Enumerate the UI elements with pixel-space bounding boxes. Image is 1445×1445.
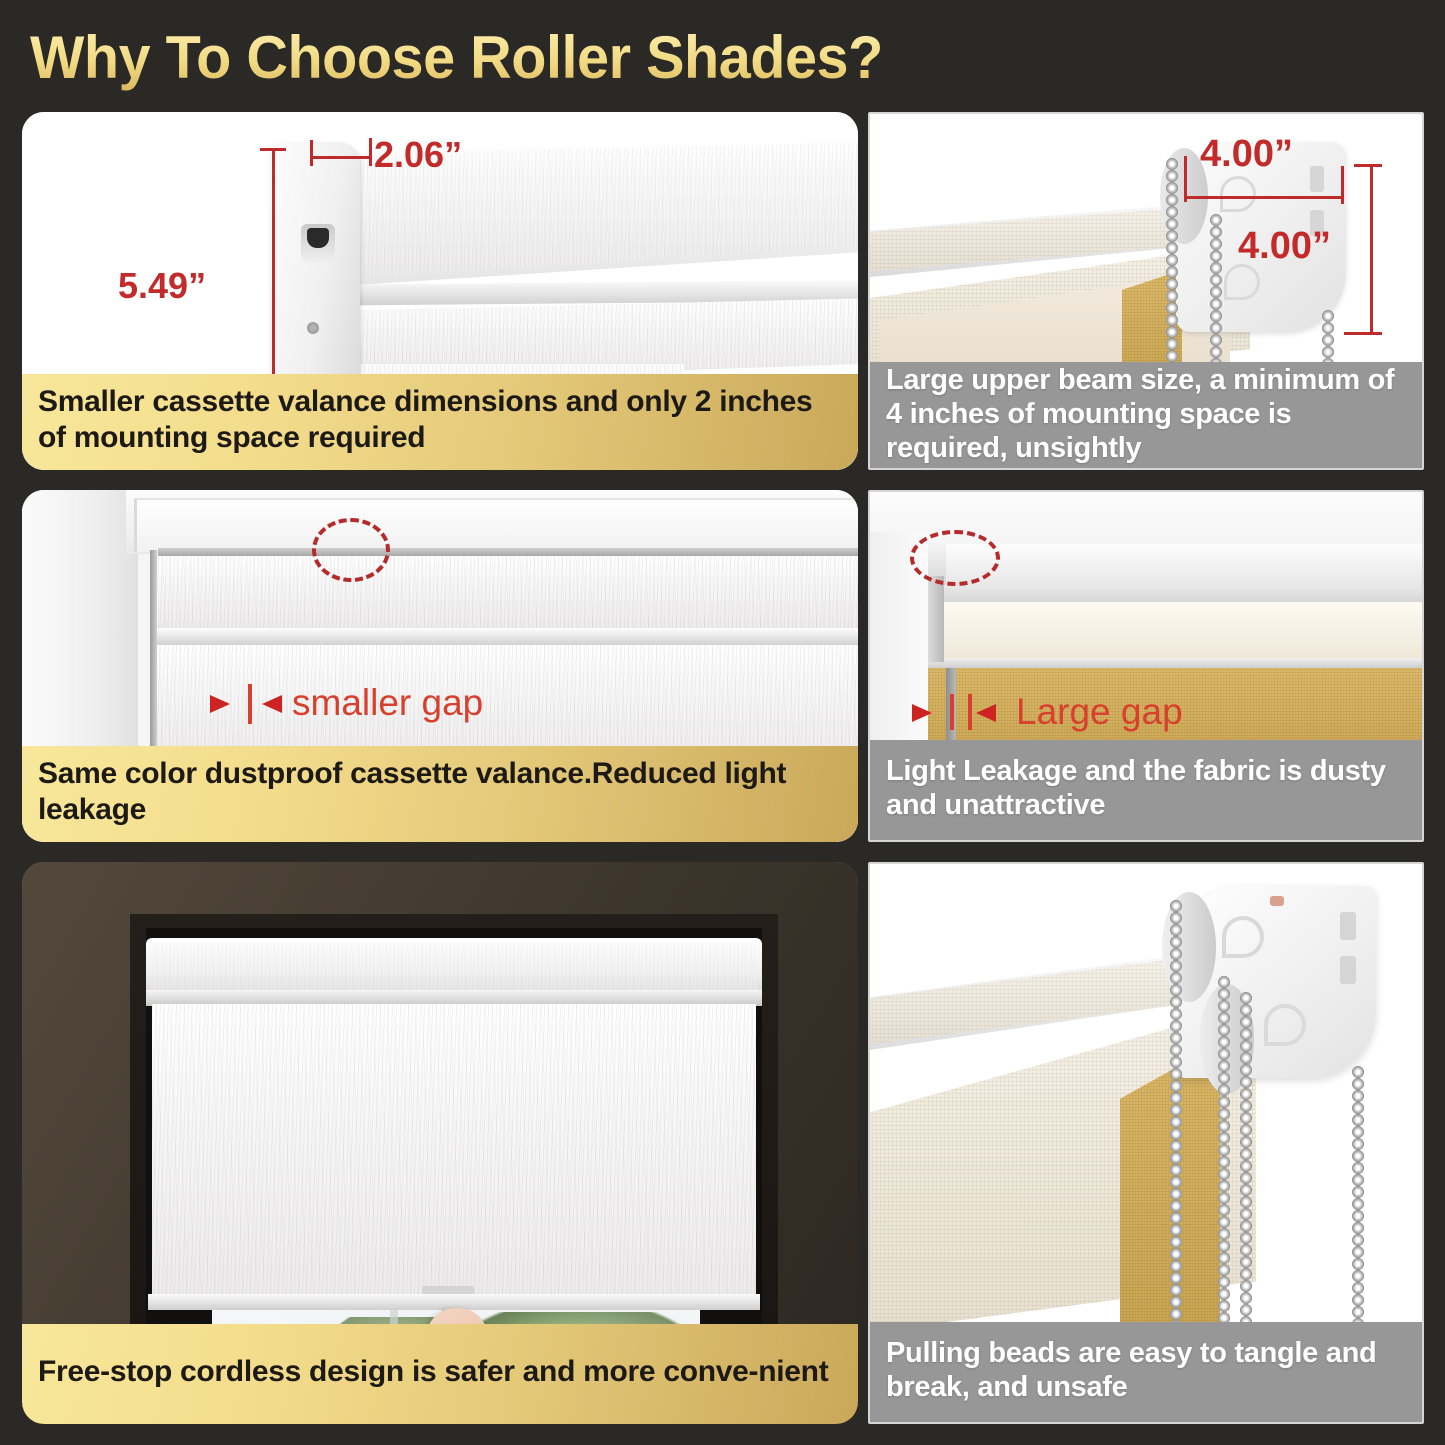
height-dimension-label: 5.49” xyxy=(118,267,206,305)
gap-arrow-left-icon xyxy=(262,695,282,713)
bracket-clip-icon xyxy=(928,576,944,662)
caption-smaller-gap-valance: Same color dustproof cassette valance.Re… xyxy=(22,746,858,842)
caption-cassette-dimensions: Smaller cassette valance dimensions and … xyxy=(22,374,858,470)
valance-cassette-texture xyxy=(150,942,758,992)
panel-large-upper-beam: 4.00” 4.00” Large upper beam size, a min… xyxy=(868,112,1424,470)
panel-smaller-gap-valance: smaller gap Same color dustproof cassett… xyxy=(22,490,858,842)
valance-top-texture xyxy=(280,142,858,284)
bracket-mount-slot-upper-icon xyxy=(1310,166,1324,192)
bracket-rotate-arrow-upper-icon xyxy=(1222,916,1264,958)
caption-large-upper-beam: Large upper beam size, a minimum of 4 in… xyxy=(870,362,1422,468)
beam-width-tick-left xyxy=(1184,156,1187,202)
panel-pulling-beads: Pulling beads are easy to tangle and bre… xyxy=(868,862,1424,1424)
bead-chain-middle-2 xyxy=(1240,992,1253,1324)
bracket-rotate-arrow-lower-icon xyxy=(1264,1004,1306,1046)
beam-height-dim-line xyxy=(1370,164,1373,334)
caption-cordless-window: Free-stop cordless design is safer and m… xyxy=(22,1324,858,1424)
bead-chain-left xyxy=(1170,900,1183,1324)
width-dim-tick-left xyxy=(310,140,313,166)
valance-bottom-lip xyxy=(154,628,858,646)
detail-highlight-circle xyxy=(312,518,390,582)
beam-width-label: 4.00” xyxy=(1200,134,1293,174)
gap-shadow-strip xyxy=(150,550,157,772)
caption-pulling-beads: Pulling beads are easy to tangle and bre… xyxy=(870,1322,1422,1422)
width-dim-tick-right xyxy=(369,138,372,166)
panel-cordless-window: Free-stop cordless design is safer and m… xyxy=(22,862,858,1424)
page-title: Why To Choose Roller Shades? xyxy=(30,22,990,94)
detail-highlight-circle xyxy=(910,530,1000,586)
gap-arrow-left-icon xyxy=(976,704,996,722)
bracket-rotate-arrow-upper-icon xyxy=(1220,176,1256,212)
beam-height-tick-top xyxy=(1354,164,1382,167)
bracket-screw-upper-icon xyxy=(307,322,319,334)
roller-shade-fabric xyxy=(152,1004,756,1304)
beam-height-label: 4.00” xyxy=(1238,226,1331,266)
width-dim-line xyxy=(310,156,372,159)
width-dimension-label: 2.06” xyxy=(374,136,462,174)
casing-inner-edge xyxy=(134,498,858,552)
infographic-page: Why To Choose Roller Shades? 2.06” xyxy=(0,0,1445,1445)
cream-fabric-band xyxy=(922,602,1424,662)
gap-marker-line-right xyxy=(968,694,972,730)
panel-light-leakage: Large gap Light Leakage and the fabric i… xyxy=(868,490,1424,842)
bead-chain-middle xyxy=(1218,976,1231,1324)
height-dim-tick-top xyxy=(260,148,286,151)
beam-width-dim-line xyxy=(1184,196,1344,199)
large-gap-label: Large gap xyxy=(1016,692,1183,732)
gap-arrow-right-icon xyxy=(210,695,230,713)
beam-height-tick-bottom xyxy=(1344,332,1382,335)
bracket-mount-slot-lower-icon xyxy=(1340,956,1356,984)
bracket-mount-slot-upper-icon xyxy=(1340,912,1356,940)
bead-chain-right xyxy=(1352,1066,1365,1324)
panel-cassette-dimensions: 2.06” 5.49” Smaller cassette valance dim… xyxy=(22,112,858,470)
shade-brand-tag xyxy=(422,1286,474,1294)
bracket-slot-hole xyxy=(307,228,329,248)
gap-marker-line xyxy=(248,684,252,724)
valance-face xyxy=(158,556,858,632)
caption-light-leakage: Light Leakage and the fabric is dusty an… xyxy=(870,740,1422,840)
gap-marker-line-left xyxy=(950,694,954,730)
bracket-pin-icon xyxy=(1270,896,1284,906)
gap-arrow-right-icon xyxy=(912,704,932,722)
smaller-gap-label: smaller gap xyxy=(292,683,483,723)
beam-width-tick-right xyxy=(1341,166,1344,204)
bracket-rotate-arrow-lower-icon xyxy=(1224,264,1260,300)
